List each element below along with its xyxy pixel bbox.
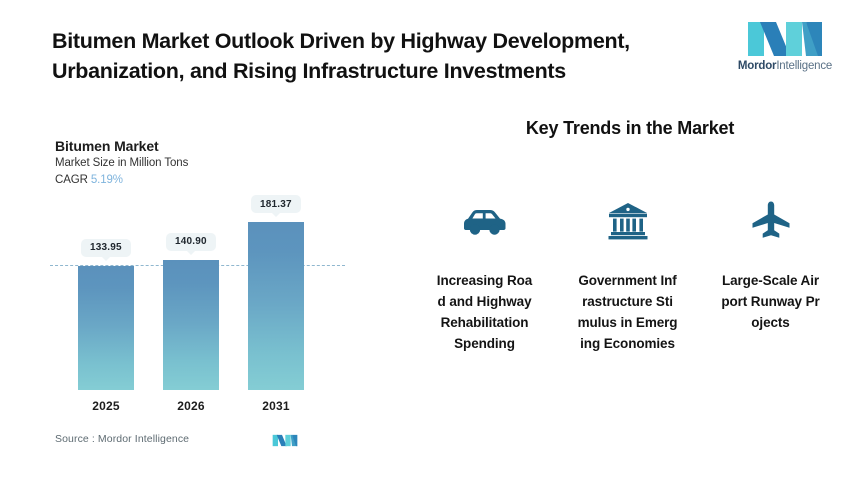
chart-cagr: CAGR5.19% bbox=[55, 174, 123, 186]
bar-chart-plot: 133.95 140.90 181.37 2025 2026 2031 Sour… bbox=[50, 195, 345, 485]
cagr-value: 5.19% bbox=[91, 174, 123, 186]
key-trends-list: Increasing Road and Highway Rehabilitati… bbox=[418, 195, 848, 355]
cagr-label: CAGR bbox=[55, 174, 88, 186]
bar-2026 bbox=[163, 260, 219, 391]
car-icon bbox=[460, 195, 510, 247]
trend-label-airport-runway: Large-Scale Airport Runway Projects bbox=[721, 271, 821, 334]
airplane-icon bbox=[750, 195, 792, 247]
bar-2031 bbox=[248, 222, 304, 390]
header: Bitumen Market Outlook Driven by Highway… bbox=[0, 0, 860, 100]
chart-source: Source : Mordor Intelligence bbox=[55, 433, 189, 445]
key-trends-title: Key Trends in the Market bbox=[400, 118, 860, 139]
trend-label-government-stimulus: Government Infrastructure Stimulus in Em… bbox=[578, 271, 678, 355]
bank-icon bbox=[607, 195, 649, 247]
page-title: Bitumen Market Outlook Driven by Highway… bbox=[52, 26, 712, 86]
trend-label-road-highway: Increasing Road and Highway Rehabilitati… bbox=[435, 271, 535, 355]
chart-title: Bitumen Market bbox=[55, 138, 159, 154]
chart-panel: Bitumen Market Market Size in Million To… bbox=[0, 100, 400, 485]
brand-name-light: Intelligence bbox=[776, 60, 832, 72]
trend-item-airport-runway: Large-Scale Airport Runway Projects bbox=[704, 195, 837, 355]
x-axis-label-2026: 2026 bbox=[163, 399, 219, 413]
brand-logo: MordorIntelligence bbox=[735, 20, 835, 78]
source-mordor-mark-icon bbox=[272, 434, 298, 447]
brand-name-bold: Mordor bbox=[738, 60, 776, 72]
brand-logo-text: MordorIntelligence bbox=[735, 60, 835, 73]
bar-value-label-2025: 133.95 bbox=[81, 239, 131, 257]
bar-2025 bbox=[78, 266, 134, 390]
bar-value-label-2026: 140.90 bbox=[166, 233, 216, 251]
x-axis-label-2031: 2031 bbox=[248, 399, 304, 413]
trend-item-road-highway: Increasing Road and Highway Rehabilitati… bbox=[418, 195, 551, 355]
bar-value-label-2031: 181.37 bbox=[251, 195, 301, 213]
x-axis-label-2025: 2025 bbox=[78, 399, 134, 413]
trend-item-government-stimulus: Government Infrastructure Stimulus in Em… bbox=[561, 195, 694, 355]
mordor-m-mark-icon bbox=[746, 20, 824, 58]
chart-subtitle: Market Size in Million Tons bbox=[55, 157, 188, 169]
key-trends-panel: Key Trends in the Market Increasing Road… bbox=[400, 100, 860, 485]
